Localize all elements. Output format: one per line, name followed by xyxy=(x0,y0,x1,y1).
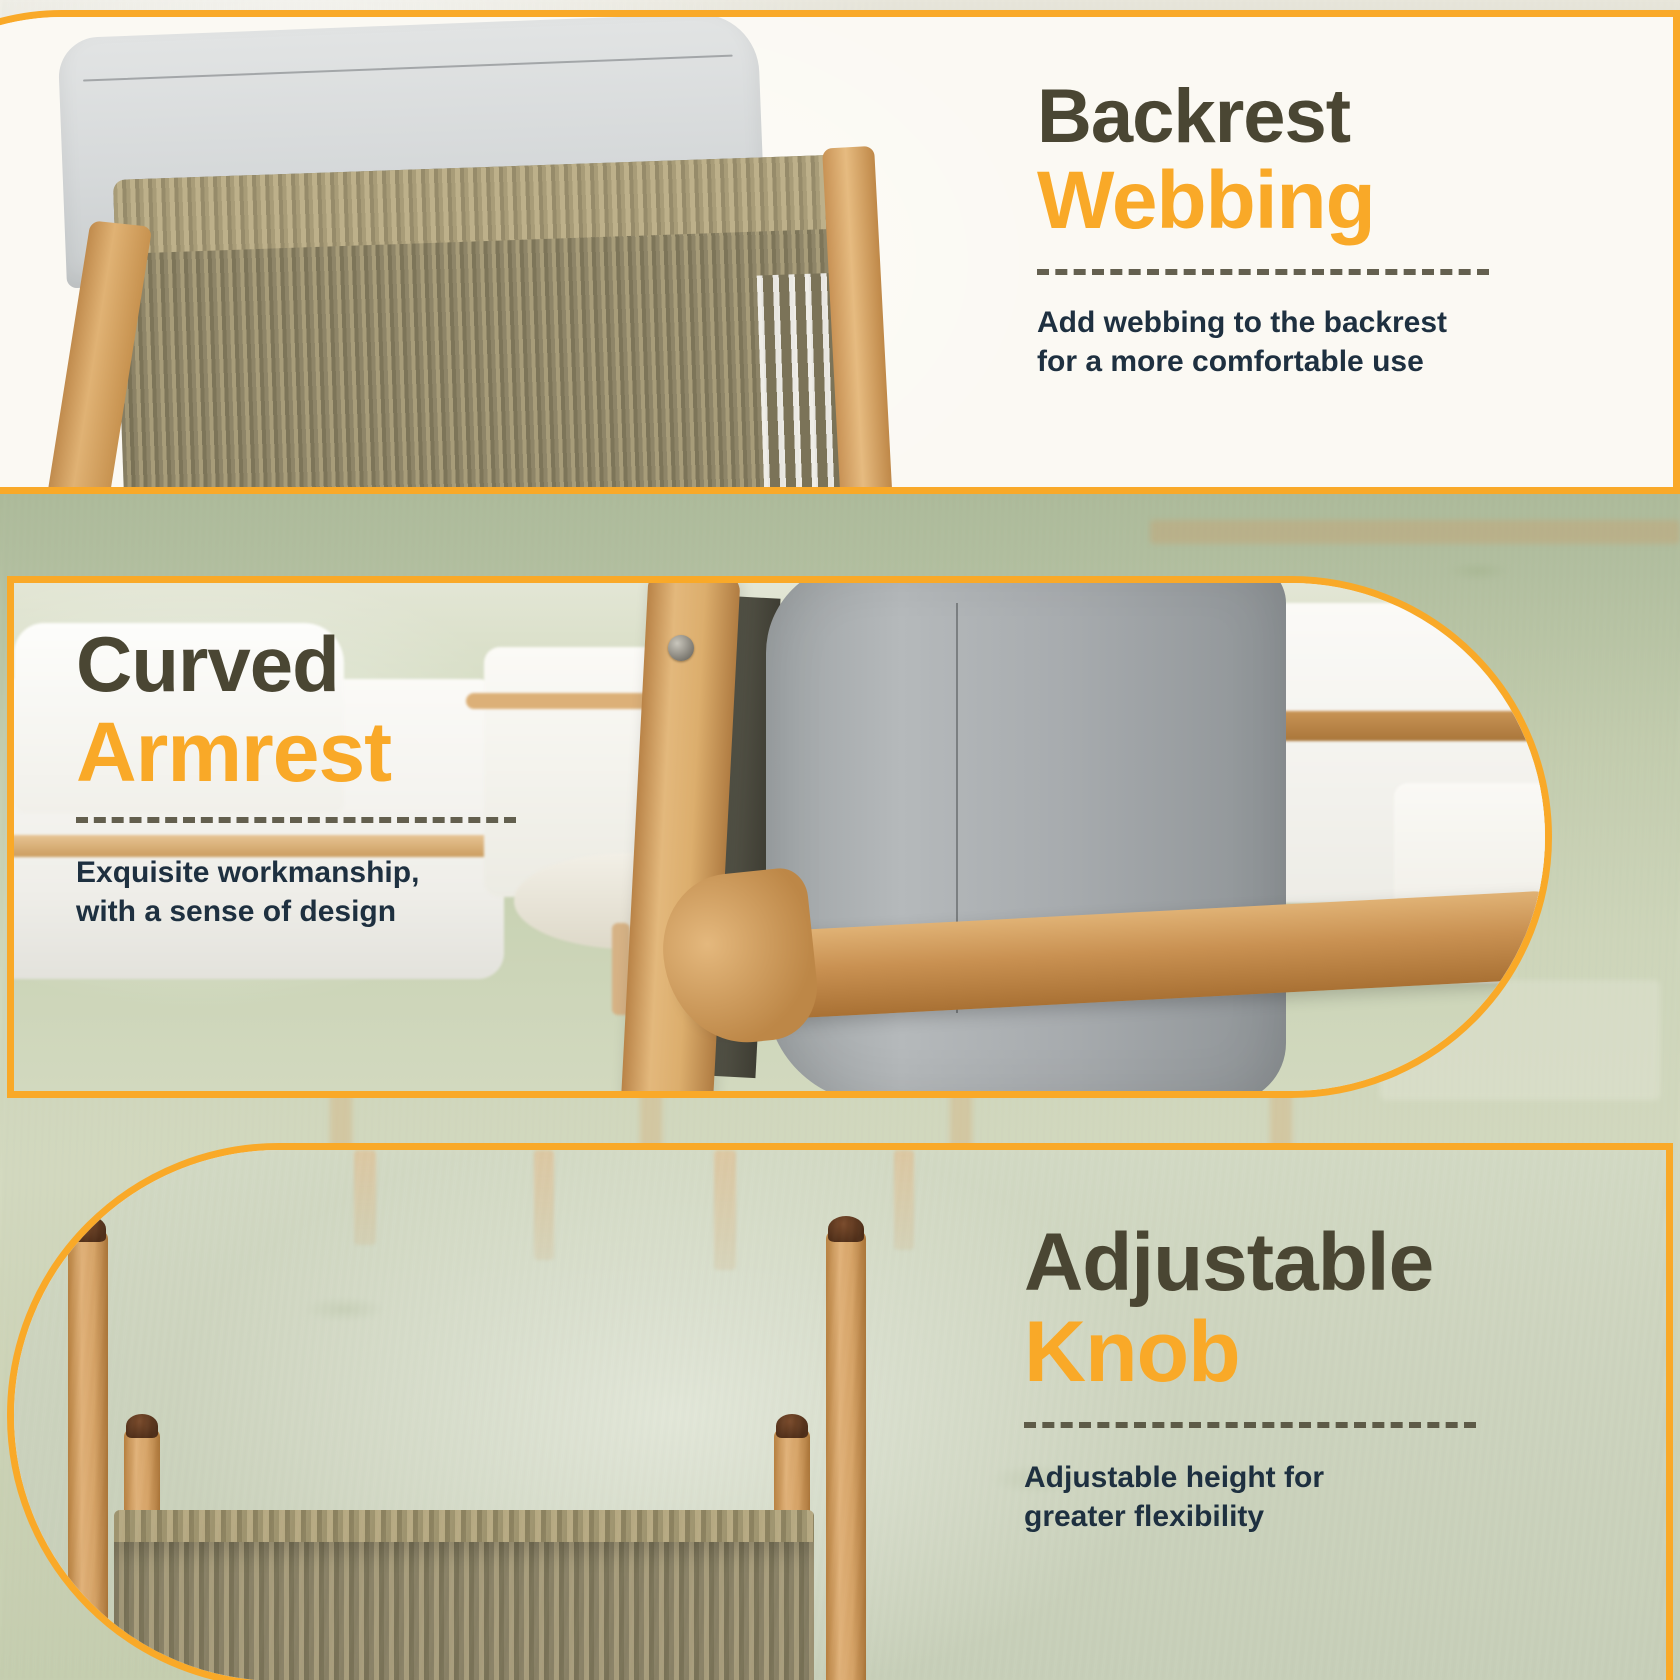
backrest-heading-primary: Backrest xyxy=(1037,79,1507,155)
armrest-description-line-2: with a sense of design xyxy=(76,892,546,931)
armrest-description-line-1: Exquisite workmanship, xyxy=(76,853,546,892)
armrest-heading-primary: Curved xyxy=(76,625,546,705)
screw-icon xyxy=(668,635,694,661)
background-chair-leg-2 xyxy=(534,1150,554,1260)
feature-card-adjustable-knob: Adjustable Knob Adjustable height for gr… xyxy=(7,1143,1673,1680)
backrest-description-line-2: for a more comfortable use xyxy=(1037,342,1507,381)
adjustable-knob-right-short xyxy=(776,1414,808,1438)
knob-dashed-divider xyxy=(1024,1422,1476,1428)
background-chair-leg-4 xyxy=(894,1150,914,1250)
infographic-page: Backrest Webbing Add webbing to the back… xyxy=(0,0,1680,1680)
seat-webbing-top-edge xyxy=(114,1510,814,1544)
armrest-dashed-divider xyxy=(76,817,516,823)
chair-leg-right-short xyxy=(774,1428,810,1680)
knob-description-line-1: Adjustable height for xyxy=(1024,1458,1664,1497)
backrest-copy-block: Backrest Webbing Add webbing to the back… xyxy=(1037,79,1507,381)
background-chair-leg-3 xyxy=(714,1150,736,1270)
armrest-description: Exquisite workmanship, with a sense of d… xyxy=(76,853,546,931)
adjustable-knob-left-tall xyxy=(70,1216,106,1242)
knob-heading-primary: Adjustable xyxy=(1024,1222,1664,1304)
seat-rope-webbing xyxy=(114,1542,814,1680)
background-chair-leg-1 xyxy=(354,1150,376,1245)
chair-leg-left-short xyxy=(124,1428,160,1680)
knob-description-line-2: greater flexibility xyxy=(1024,1497,1664,1536)
feature-card-curved-armrest: Curved Armrest Exquisite workmanship, wi… xyxy=(7,576,1552,1098)
armrest-heading-accent: Armrest xyxy=(76,705,546,799)
knob-description: Adjustable height for greater flexibilit… xyxy=(1024,1458,1664,1536)
backrest-description-line-1: Add webbing to the backrest xyxy=(1037,303,1507,342)
chair-leg-right-tall xyxy=(826,1230,866,1680)
rope-webbing-shape xyxy=(113,154,865,487)
knob-heading-accent: Knob xyxy=(1024,1304,1664,1400)
feature-card-backrest-webbing: Backrest Webbing Add webbing to the back… xyxy=(0,10,1680,494)
backrest-heading-accent: Webbing xyxy=(1037,155,1507,247)
adjustable-knob-left-short xyxy=(126,1414,158,1438)
adjustable-knob-right-tall xyxy=(828,1216,864,1242)
backrest-dashed-divider xyxy=(1037,269,1489,275)
knob-copy-block: Adjustable Knob Adjustable height for gr… xyxy=(1024,1222,1664,1536)
backrest-description: Add webbing to the backrest for a more c… xyxy=(1037,303,1507,381)
armrest-copy-block: Curved Armrest Exquisite workmanship, wi… xyxy=(76,625,546,931)
chair-leg-left-tall xyxy=(68,1230,108,1680)
